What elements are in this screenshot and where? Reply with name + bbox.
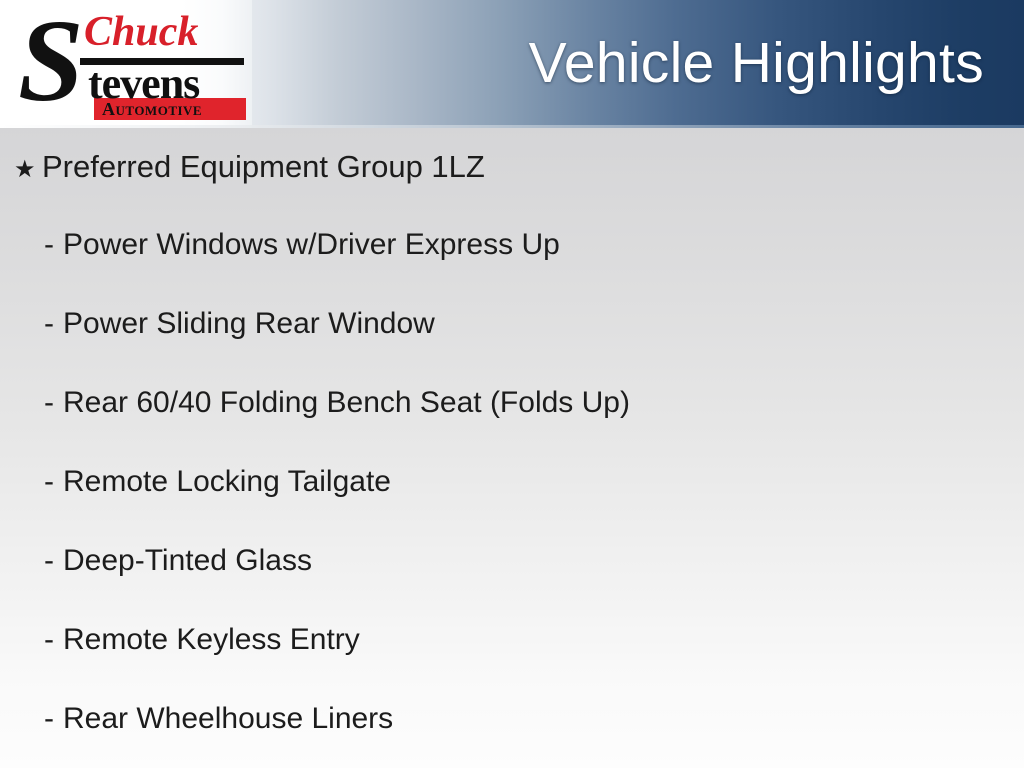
list-item: -Rear Wheelhouse Liners bbox=[0, 702, 1024, 768]
list-item-label: Preferred Equipment Group 1LZ bbox=[42, 149, 485, 185]
logo-script-chuck: Chuck bbox=[84, 11, 198, 53]
list-item: -Power Sliding Rear Window bbox=[0, 307, 1024, 386]
list-item-label: Deep-Tinted Glass bbox=[63, 544, 312, 578]
slide-header: S Chuck tevens Automotive Vehicle Highli… bbox=[0, 0, 1024, 128]
list-item: -Power Windows w/Driver Express Up bbox=[0, 228, 1024, 307]
highlights-list: ★Preferred Equipment Group 1LZ-Power Win… bbox=[0, 128, 1024, 768]
dash-bullet-icon: - bbox=[44, 388, 63, 418]
dash-bullet-icon: - bbox=[44, 467, 63, 497]
list-item: ★Preferred Equipment Group 1LZ bbox=[0, 149, 1024, 228]
list-item: -Rear 60/40 Folding Bench Seat (Folds Up… bbox=[0, 386, 1024, 465]
logo-artwork: S Chuck tevens Automotive bbox=[14, 6, 252, 122]
list-item: -Remote Locking Tailgate bbox=[0, 465, 1024, 544]
dash-bullet-icon: - bbox=[44, 625, 63, 655]
vehicle-highlights-slide: S Chuck tevens Automotive Vehicle Highli… bbox=[0, 0, 1024, 768]
dash-bullet-icon: - bbox=[44, 704, 63, 734]
list-item-label: Remote Locking Tailgate bbox=[63, 465, 391, 499]
star-bullet-icon: ★ bbox=[14, 158, 42, 182]
dash-bullet-icon: - bbox=[44, 546, 63, 576]
list-item-label: Rear Wheelhouse Liners bbox=[63, 702, 393, 736]
page-title: Vehicle Highlights bbox=[529, 27, 984, 99]
dash-bullet-icon: - bbox=[44, 230, 63, 260]
list-item: -Deep-Tinted Glass bbox=[0, 544, 1024, 623]
dash-bullet-icon: - bbox=[44, 309, 63, 339]
list-item-label: Power Windows w/Driver Express Up bbox=[63, 228, 560, 262]
logo-tagline-automotive: Automotive bbox=[102, 99, 202, 119]
list-item-label: Remote Keyless Entry bbox=[63, 623, 360, 657]
list-item: -Remote Keyless Entry bbox=[0, 623, 1024, 702]
list-item-label: Rear 60/40 Folding Bench Seat (Folds Up) bbox=[63, 386, 630, 420]
list-item-label: Power Sliding Rear Window bbox=[63, 307, 435, 341]
dealer-logo[interactable]: S Chuck tevens Automotive bbox=[0, 0, 252, 128]
logo-initial-s: S bbox=[18, 2, 82, 120]
